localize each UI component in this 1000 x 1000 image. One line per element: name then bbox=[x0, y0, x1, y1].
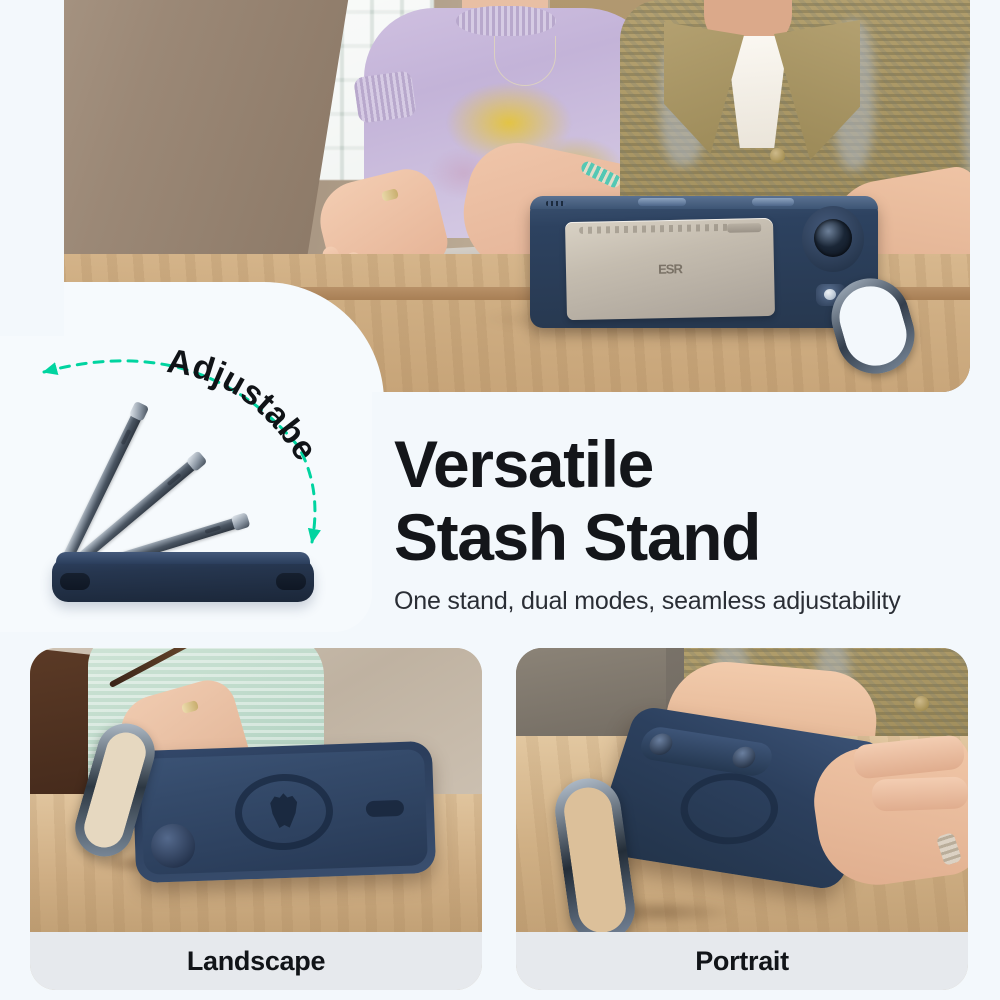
case-speaker-vent bbox=[546, 201, 566, 206]
mode-panel-portrait: Portrait bbox=[516, 648, 968, 990]
page-title: Versatile Stash Stand bbox=[394, 428, 994, 575]
power-bank-contact-chip bbox=[727, 223, 761, 233]
camera-lens-icon bbox=[814, 219, 852, 257]
portrait-cardigan-button bbox=[914, 696, 929, 711]
hero-photo: ESR bbox=[64, 0, 970, 392]
page-subtitle: One stand, dual modes, seamless adjustab… bbox=[394, 586, 994, 617]
product-feature-page: ESR bbox=[0, 0, 1000, 1000]
svg-text:Adjustabe: Adjustabe bbox=[164, 342, 324, 467]
adjustable-label: Adjustabe bbox=[0, 336, 372, 632]
landscape-logo-cutout bbox=[366, 800, 405, 817]
camera-housing bbox=[802, 206, 864, 272]
adjustable-diagram-card: Adjustabe bbox=[0, 336, 372, 632]
portrait-photo bbox=[516, 648, 968, 932]
esr-power-bank: ESR bbox=[565, 218, 775, 320]
case-button-cutout bbox=[638, 198, 686, 206]
woman-sleeve-cuff bbox=[353, 70, 417, 124]
headline-line-1: Versatile bbox=[394, 427, 653, 501]
stand-hinge-pin bbox=[824, 289, 836, 300]
adjustable-word-text: Adjustabe bbox=[164, 342, 324, 467]
adjustable-illustration: Adjustabe bbox=[0, 336, 372, 632]
headline-line-2: Stash Stand bbox=[394, 501, 994, 574]
landscape-photo bbox=[30, 648, 482, 932]
magsafe-ring-icon bbox=[671, 767, 788, 851]
landscape-phone-case bbox=[132, 741, 436, 883]
landscape-caption: Landscape bbox=[30, 932, 482, 990]
camera-lens-icon bbox=[730, 745, 759, 770]
portrait-finger bbox=[871, 776, 968, 811]
woman-collar bbox=[456, 6, 556, 36]
portrait-caption: Portrait bbox=[516, 932, 968, 990]
mode-panel-landscape: Landscape bbox=[30, 648, 482, 990]
hero-lifestyle-panel: ESR bbox=[64, 0, 970, 392]
camera-lens-icon bbox=[647, 732, 676, 757]
portrait-camera-bar bbox=[637, 725, 776, 778]
esr-brand-logo: ESR bbox=[658, 262, 682, 275]
man-cardigan-button bbox=[770, 148, 785, 163]
power-bank-label-strip bbox=[579, 224, 729, 234]
case-button-cutout bbox=[752, 198, 794, 206]
